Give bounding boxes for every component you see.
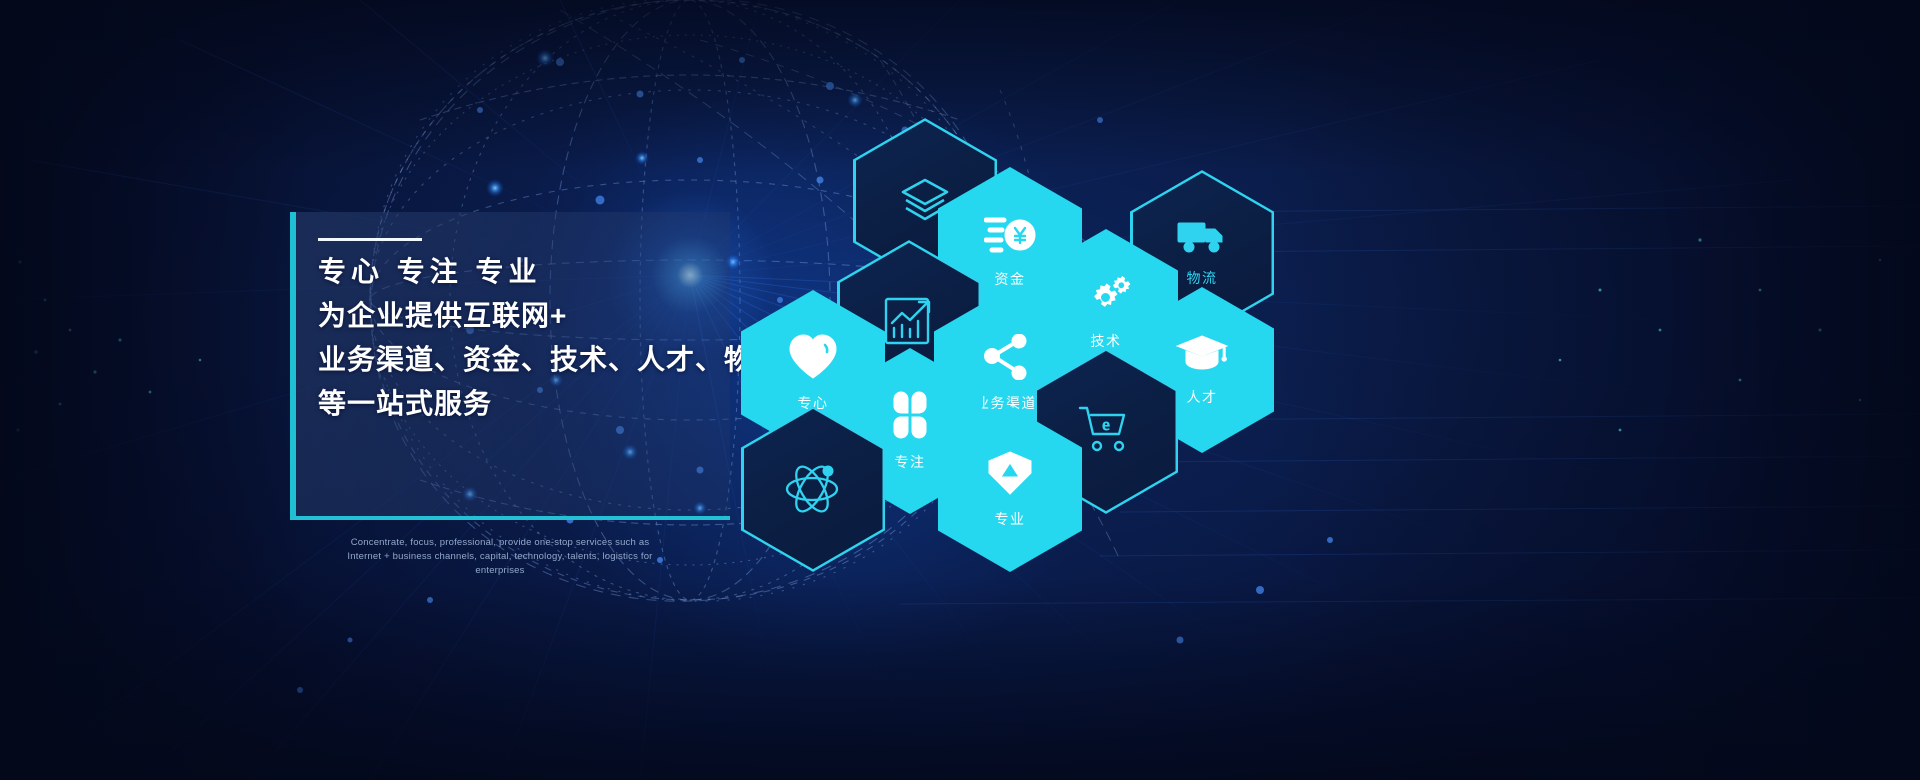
hex-label-technology: 技术	[1091, 331, 1122, 351]
clover-icon	[886, 391, 934, 444]
gears-icon	[1081, 274, 1131, 323]
graduation-cap-icon	[1176, 334, 1228, 379]
atom-icon	[784, 461, 842, 518]
hex-label-logistics: 物流	[1187, 268, 1218, 288]
banner-root: 专心 专注 专业 为企业提供互联网+ 业务渠道、资金、技术、人才、物流 等一站式…	[0, 0, 1920, 780]
hexagon-cluster: 资金 物流	[0, 0, 1920, 780]
share-nodes-icon	[982, 334, 1030, 385]
hex-label-capital: 资金	[995, 269, 1026, 289]
hex-label-dedication: 专注	[895, 452, 926, 472]
svg-text:e: e	[1102, 415, 1110, 434]
yen-cash-icon	[984, 212, 1036, 261]
growth-chart-icon	[883, 295, 935, 352]
hex-label-talent: 人才	[1187, 387, 1218, 407]
shopping-cart-e-icon: e	[1078, 405, 1134, 458]
diamond-icon	[987, 450, 1033, 501]
hex-label-professional: 专业	[995, 509, 1026, 529]
truck-icon	[1177, 219, 1227, 260]
heart-icon	[788, 334, 838, 385]
